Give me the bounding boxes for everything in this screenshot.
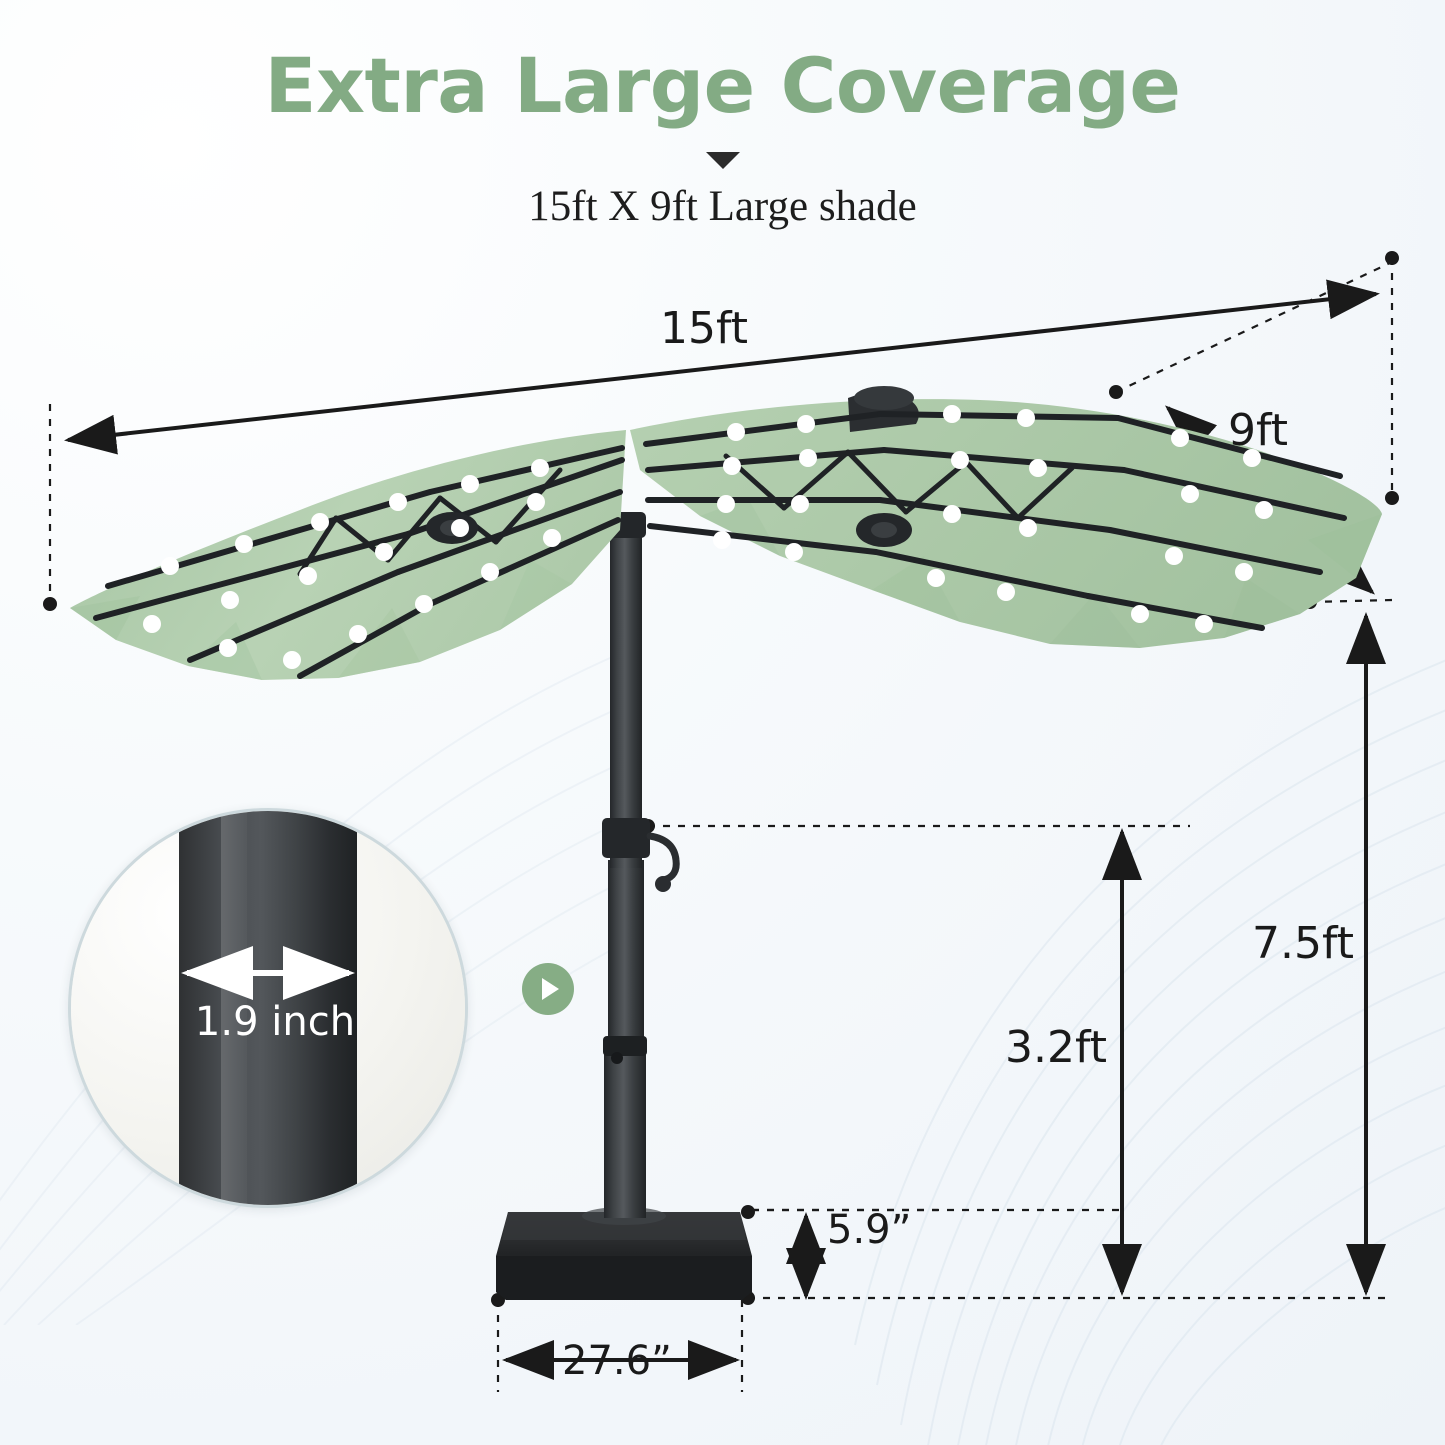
infographic-canvas: Extra Large Coverage 15ft X 9ft Large sh…	[0, 0, 1445, 1445]
label-base-width: 27.6”	[562, 1338, 672, 1384]
product-diagram	[0, 0, 1445, 1445]
umbrella-base	[496, 1207, 752, 1300]
label-depth-9ft: 9ft	[1228, 405, 1288, 456]
label-height-3_2ft: 3.2ft	[1005, 1022, 1107, 1073]
umbrella-pole	[602, 512, 676, 1218]
play-arrow-badge[interactable]	[522, 963, 574, 1015]
pole-diameter-magnifier: 1.9 inch	[68, 808, 468, 1208]
umbrella-canopy	[70, 386, 1382, 680]
label-base-height: 5.9”	[827, 1207, 911, 1253]
label-height-7_5ft: 7.5ft	[1252, 918, 1354, 969]
pole-diameter-label: 1.9 inch	[185, 999, 365, 1045]
label-width-15ft: 15ft	[660, 303, 748, 354]
